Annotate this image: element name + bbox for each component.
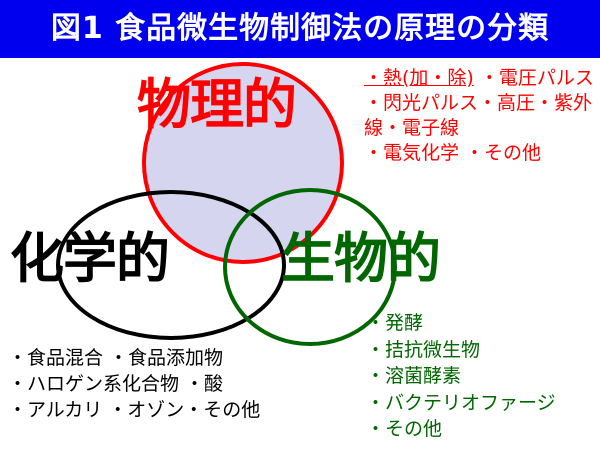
list-biological-line-2: ・溶菌酵素 bbox=[366, 363, 556, 390]
list-biological-methods: ・発酵 ・拮抗微生物 ・溶菌酵素 ・バクテリオファージ ・その他 bbox=[366, 310, 556, 443]
list-chemical-line-1: ・ハロゲン系化合物 ・酸 bbox=[8, 371, 260, 397]
venn-label-biological: 生物的 bbox=[281, 232, 440, 286]
list-biological-line-3: ・バクテリオファージ bbox=[366, 390, 556, 417]
list-physical-line-0: ・熱(加・除) bbox=[364, 67, 474, 89]
list-biological-line-1: ・拮抗微生物 bbox=[366, 337, 556, 364]
figure-root: 図1 食品微生物制御法の原理の分類 物理的 化学的 生物的 ・熱(加・除) ・電… bbox=[0, 0, 600, 449]
list-biological-line-4: ・その他 bbox=[366, 416, 556, 443]
list-physical-line-2: ・電気化学 ・その他 bbox=[364, 142, 541, 164]
list-chemical-line-2: ・アルカリ ・オゾン・その他 bbox=[8, 397, 260, 423]
venn-label-chemical: 化学的 bbox=[10, 232, 169, 286]
list-chemical-methods: ・食品混合 ・食品添加物 ・ハロゲン系化合物 ・酸 ・アルカリ ・オゾン・その他 bbox=[8, 345, 260, 424]
list-chemical-line-0: ・食品混合 ・食品添加物 bbox=[8, 345, 260, 371]
figure-title-bar: 図1 食品微生物制御法の原理の分類 bbox=[0, 0, 600, 58]
list-biological-line-0: ・発酵 bbox=[366, 310, 556, 337]
venn-label-physical: 物理的 bbox=[137, 78, 296, 132]
page-title: 図1 食品微生物制御法の原理の分類 bbox=[51, 14, 549, 44]
list-physical-methods: ・熱(加・除) ・電圧パルス ・閃光パルス・高圧・紫外線・電子線 ・電気化学 ・… bbox=[364, 66, 600, 166]
